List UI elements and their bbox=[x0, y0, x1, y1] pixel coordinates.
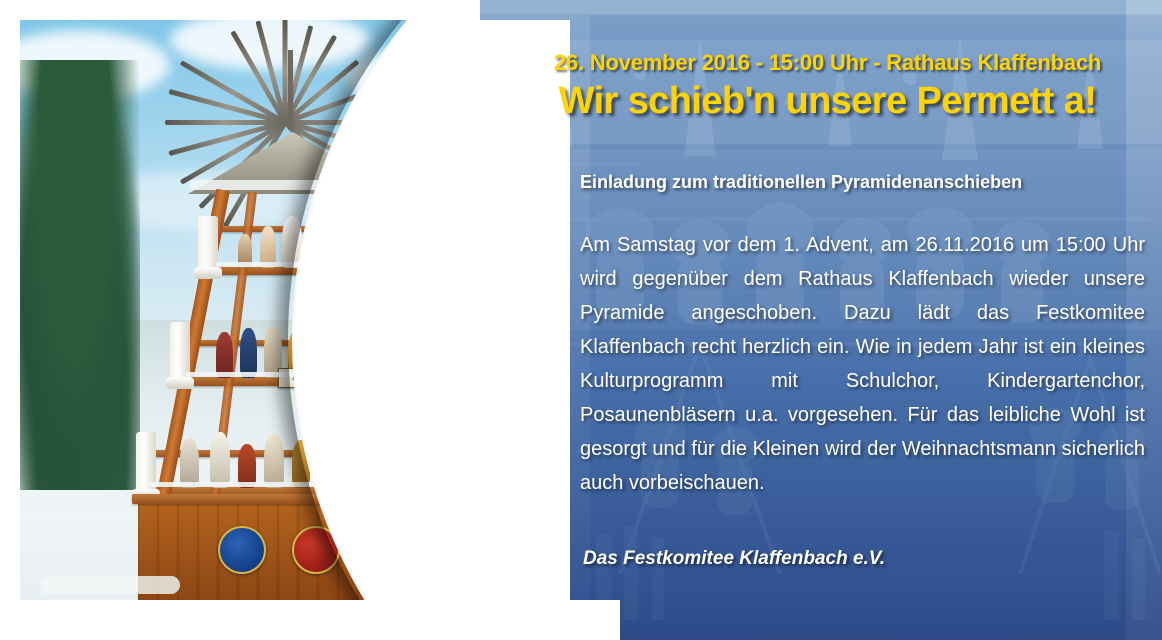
pyramid-mast bbox=[288, 50, 293, 130]
pyramid-figure bbox=[180, 438, 199, 488]
emblem-mining bbox=[218, 526, 266, 574]
event-poster: Klaffenbach bbox=[0, 0, 1162, 640]
poster-signature: Das Festkomitee Klaffenbach e.V. bbox=[583, 548, 885, 570]
pyramid-figure bbox=[210, 432, 230, 488]
photo-top-margin bbox=[0, 0, 480, 20]
poster-body-text: Am Samstag vor dem 1. Advent, am 26.11.2… bbox=[580, 228, 1145, 500]
pyramid-figure bbox=[264, 434, 284, 488]
pyramid-candle bbox=[198, 216, 218, 272]
snow-drift bbox=[40, 576, 180, 594]
poster-headline: Wir schieb'n unsere Permett a! bbox=[505, 80, 1150, 123]
poster-text-column: 26. November 2016 - 15:00 Uhr - Rathaus … bbox=[505, 0, 1150, 640]
event-details-line: 26. November 2016 - 15:00 Uhr - Rathaus … bbox=[505, 50, 1150, 76]
pyramid-photo: Klaffenbach bbox=[20, 20, 570, 620]
poster-subheadline: Einladung zum traditionellen Pyramidenan… bbox=[580, 172, 1150, 193]
photo-left-margin bbox=[0, 0, 20, 640]
pyramid-figure bbox=[240, 328, 257, 378]
